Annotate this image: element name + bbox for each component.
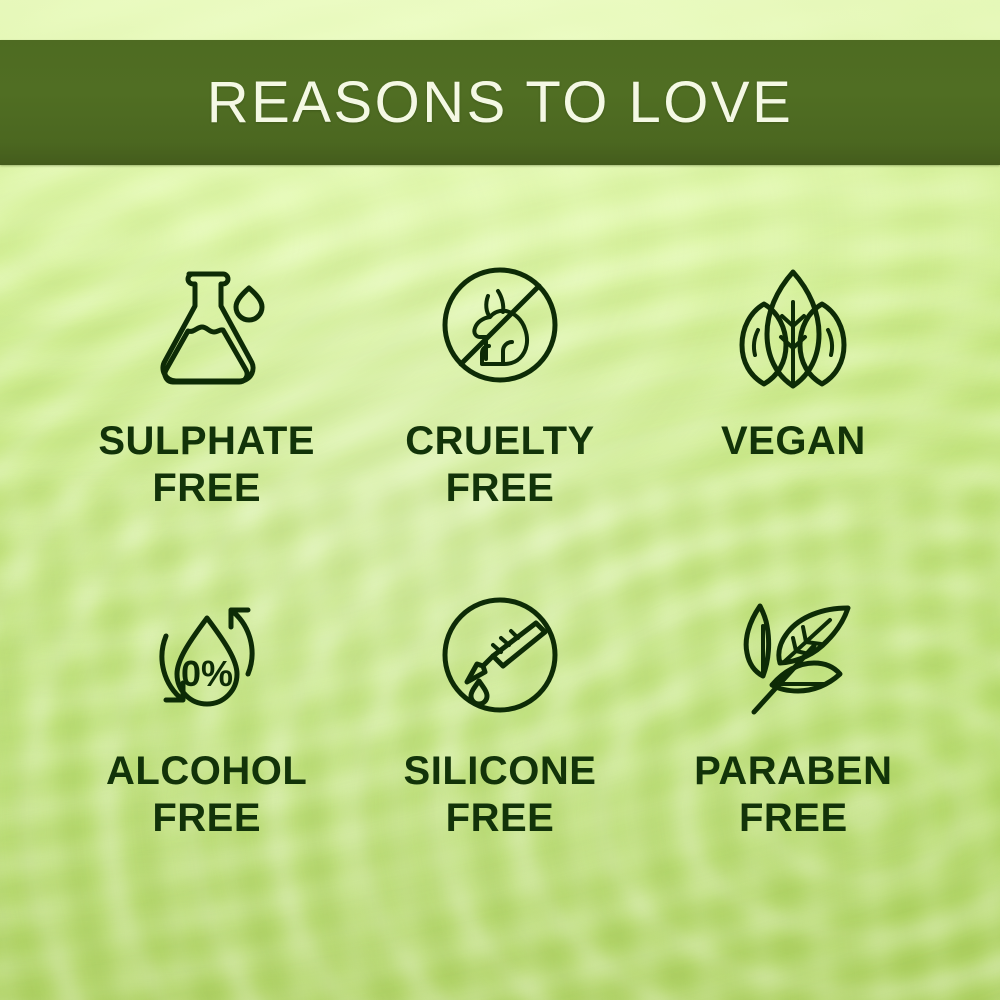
dropper-pipette-icon <box>425 580 575 730</box>
page-title: REASONS TO LOVE <box>207 74 794 132</box>
badge-paraben-free: PARABEN FREE <box>647 580 940 880</box>
badge-label-line-2: FREE <box>106 795 307 842</box>
no-animal-testing-rabbit-icon <box>425 250 575 400</box>
badge-label-line-2: FREE <box>405 465 594 512</box>
badge-label: PARABEN FREE <box>694 748 892 842</box>
leaf-branch-icon <box>718 580 868 730</box>
badge-label-line-2: FREE <box>98 465 315 512</box>
reasons-to-love-infographic: REASONS TO LOVE SULPHATE FREE <box>0 0 1000 1000</box>
badge-label: VEGAN <box>721 418 866 465</box>
zero-percent-water-droplet-icon: 0% <box>132 580 282 730</box>
badge-cruelty-free: CRUELTY FREE <box>353 250 646 550</box>
three-leaves-vegan-icon <box>718 250 868 400</box>
badge-label: ALCOHOL FREE <box>106 748 307 842</box>
badge-label: CRUELTY FREE <box>405 418 594 512</box>
badge-label-line-1: SULPHATE <box>98 418 315 465</box>
header-banner: REASONS TO LOVE <box>0 40 1000 165</box>
badge-label-line-1: ALCOHOL <box>106 748 307 795</box>
badge-sulphate-free: SULPHATE FREE <box>60 250 353 550</box>
badge-label-line-1: CRUELTY <box>405 418 594 465</box>
benefits-grid: SULPHATE FREE CRUELTY FREE <box>60 250 940 880</box>
badge-label-line-1: SILICONE <box>404 748 597 795</box>
badge-silicone-free: SILICONE FREE <box>353 580 646 880</box>
badge-alcohol-free: 0% ALCOHOL FREE <box>60 580 353 880</box>
badge-label-line-2: FREE <box>694 795 892 842</box>
badge-label-line-2: FREE <box>404 795 597 842</box>
badge-label-line-1: VEGAN <box>721 418 866 465</box>
badge-label: SILICONE FREE <box>404 748 597 842</box>
badge-label: SULPHATE FREE <box>98 418 315 512</box>
badge-label-line-1: PARABEN <box>694 748 892 795</box>
badge-vegan: VEGAN <box>647 250 940 550</box>
droplet-zero-percent-text: 0% <box>181 653 233 694</box>
flask-droplet-icon <box>132 250 282 400</box>
